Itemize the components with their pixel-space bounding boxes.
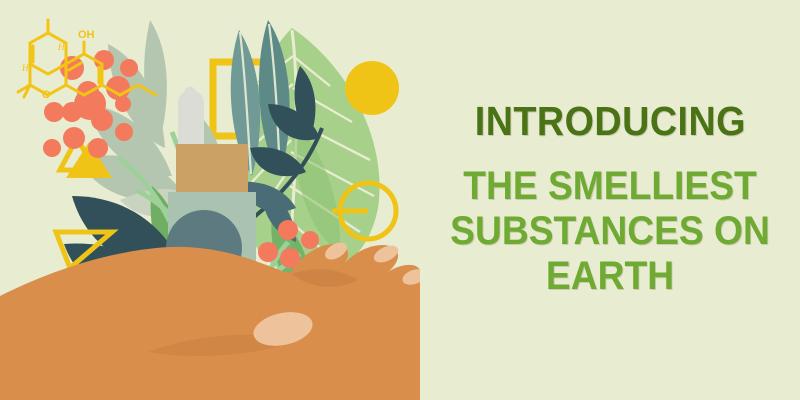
berry	[63, 127, 85, 149]
headline-main: THE SMELLIEST SUBSTANCES ON EARTH	[438, 164, 782, 298]
berry	[115, 123, 133, 141]
botanical-illustration: OH H H O	[0, 0, 420, 400]
berry	[88, 138, 108, 158]
molecule-label-h: H	[57, 42, 65, 52]
berry	[301, 231, 319, 249]
berry	[43, 139, 61, 157]
molecule-label-h: H	[21, 63, 29, 73]
illustration-svg: OH H H O	[0, 0, 420, 400]
headline-intro: INTRODUCING	[474, 101, 745, 142]
promo-banner: OH H H O	[0, 0, 800, 400]
berry	[258, 242, 278, 262]
molecule-label-o: O	[42, 89, 51, 101]
berry	[278, 220, 298, 240]
berry	[120, 59, 138, 77]
yellow-circle-filled	[345, 61, 399, 115]
headline-block: INTRODUCING THE SMELLIEST SUBSTANCES ON …	[420, 0, 800, 400]
berry	[115, 96, 131, 112]
molecule-label-oh: OH	[78, 29, 95, 41]
berry	[44, 102, 64, 122]
bottle-cap	[176, 144, 248, 192]
